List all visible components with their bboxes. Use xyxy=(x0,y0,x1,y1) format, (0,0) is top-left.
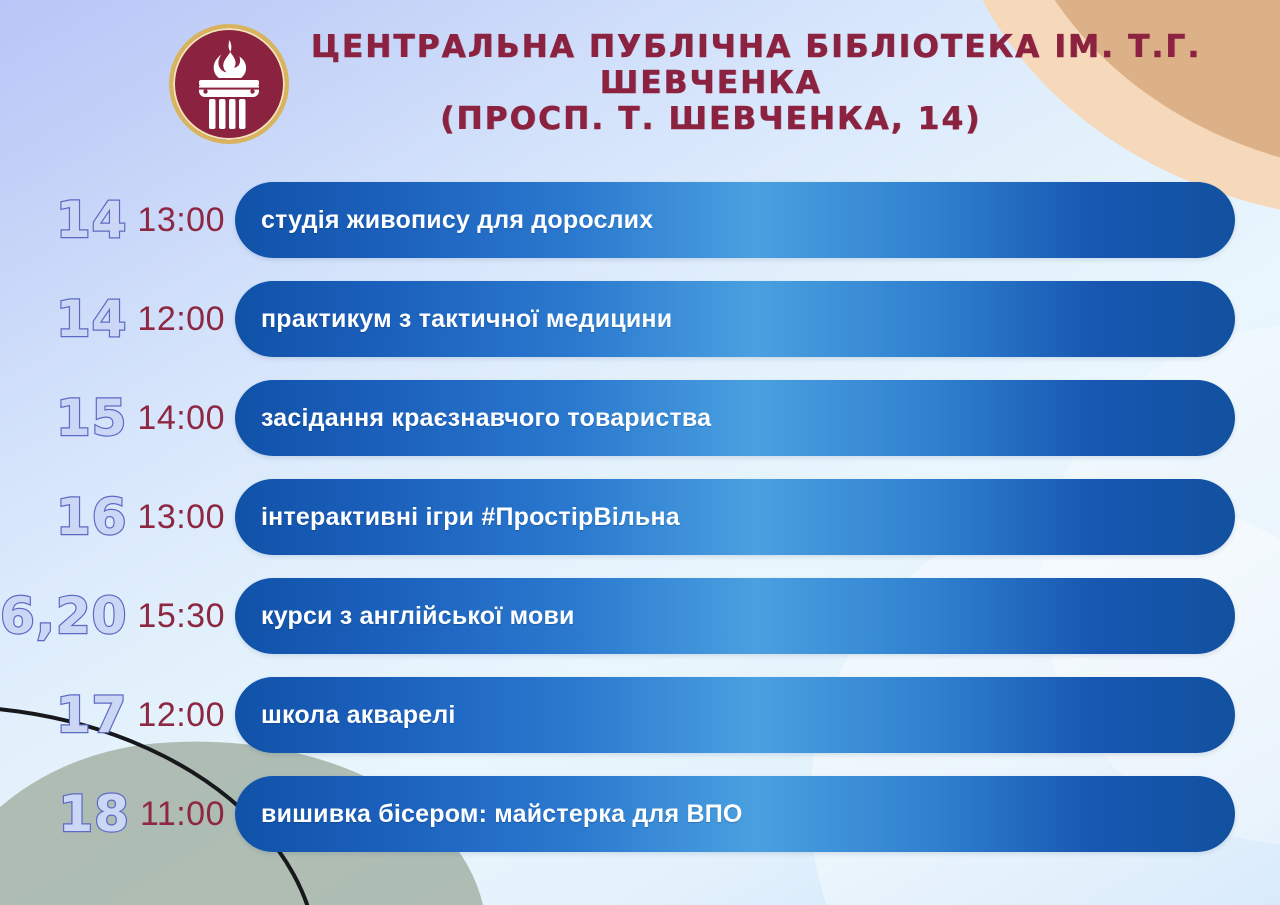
event-date-time-group: 15 14:00 xyxy=(0,380,235,456)
event-title: студія живопису для дорослих xyxy=(261,208,653,233)
event-bar[interactable]: інтерактивні ігри #ПростірВільна xyxy=(235,479,1235,555)
event-row: 17 12:00 школа акварелі xyxy=(0,677,1280,776)
library-logo xyxy=(169,24,289,144)
event-row: 16,20 15:30 курси з англійської мови xyxy=(0,578,1280,677)
event-day-number: 16,20 xyxy=(0,591,127,641)
event-title: практикум з тактичної медицини xyxy=(261,307,672,332)
event-date-time-group: 16,20 15:30 xyxy=(0,578,235,654)
event-title: інтерактивні ігри #ПростірВільна xyxy=(261,505,680,530)
event-title: засідання краєзнавчого товариства xyxy=(261,406,711,431)
event-day-number: 15 xyxy=(56,393,128,443)
event-bar[interactable]: школа акварелі xyxy=(235,677,1235,753)
event-day-number: 17 xyxy=(56,690,128,740)
event-time: 13:00 xyxy=(137,500,225,534)
event-time: 12:00 xyxy=(137,698,225,732)
event-bar[interactable]: практикум з тактичної медицини xyxy=(235,281,1235,357)
event-date-time-group: 16 13:00 xyxy=(0,479,235,555)
page-title-line-3: (ПРОСП. Т. ШЕВЧЕНКА, 14) xyxy=(311,102,1111,138)
event-schedule-poster: ЦЕНТРАЛЬНА ПУБЛІЧНА БІБЛІОТЕКА ІМ. Т.Г. … xyxy=(0,0,1280,905)
event-title: вишивка бісером: майстерка для ВПО xyxy=(261,802,743,827)
event-day-number: 14 xyxy=(56,294,128,344)
event-time: 13:00 xyxy=(137,203,225,237)
event-time: 11:00 xyxy=(140,797,225,831)
event-bar[interactable]: студія живопису для дорослих xyxy=(235,182,1235,258)
event-bar[interactable]: курси з англійської мови xyxy=(235,578,1235,654)
poster-header: ЦЕНТРАЛЬНА ПУБЛІЧНА БІБЛІОТЕКА ІМ. Т.Г. … xyxy=(0,14,1280,154)
event-day-number: 18 xyxy=(58,789,130,839)
event-date-time-group: 14 13:00 xyxy=(0,182,235,258)
event-bar[interactable]: засідання краєзнавчого товариства xyxy=(235,380,1235,456)
event-bar[interactable]: вишивка бісером: майстерка для ВПО xyxy=(235,776,1235,852)
page-title-line-1: ЦЕНТРАЛЬНА ПУБЛІЧНА БІБЛІОТЕКА ІМ. Т.Г. xyxy=(311,30,1111,66)
event-date-time-group: 17 12:00 xyxy=(0,677,235,753)
event-row: 16 13:00 інтерактивні ігри #ПростірВільн… xyxy=(0,479,1280,578)
event-day-number: 14 xyxy=(56,195,128,245)
library-column-flame-emblem-icon xyxy=(173,28,285,140)
event-title: школа акварелі xyxy=(261,703,456,728)
page-title: ЦЕНТРАЛЬНА ПУБЛІЧНА БІБЛІОТЕКА ІМ. Т.Г. … xyxy=(311,30,1111,138)
event-date-time-group: 14 12:00 xyxy=(0,281,235,357)
event-row: 14 13:00 студія живопису для дорослих xyxy=(0,182,1280,281)
event-date-time-group: 18 11:00 xyxy=(0,776,235,852)
events-list: 14 13:00 студія живопису для дорослих 14… xyxy=(0,182,1280,875)
event-title: курси з англійської мови xyxy=(261,604,575,629)
event-time: 12:00 xyxy=(137,302,225,336)
event-row: 15 14:00 засідання краєзнавчого товарист… xyxy=(0,380,1280,479)
event-day-number: 16 xyxy=(56,492,128,542)
event-time: 14:00 xyxy=(137,401,225,435)
page-title-line-2: ШЕВЧЕНКА xyxy=(311,66,1111,102)
event-row: 14 12:00 практикум з тактичної медицини xyxy=(0,281,1280,380)
event-time: 15:30 xyxy=(137,599,225,633)
event-row: 18 11:00 вишивка бісером: майстерка для … xyxy=(0,776,1280,875)
